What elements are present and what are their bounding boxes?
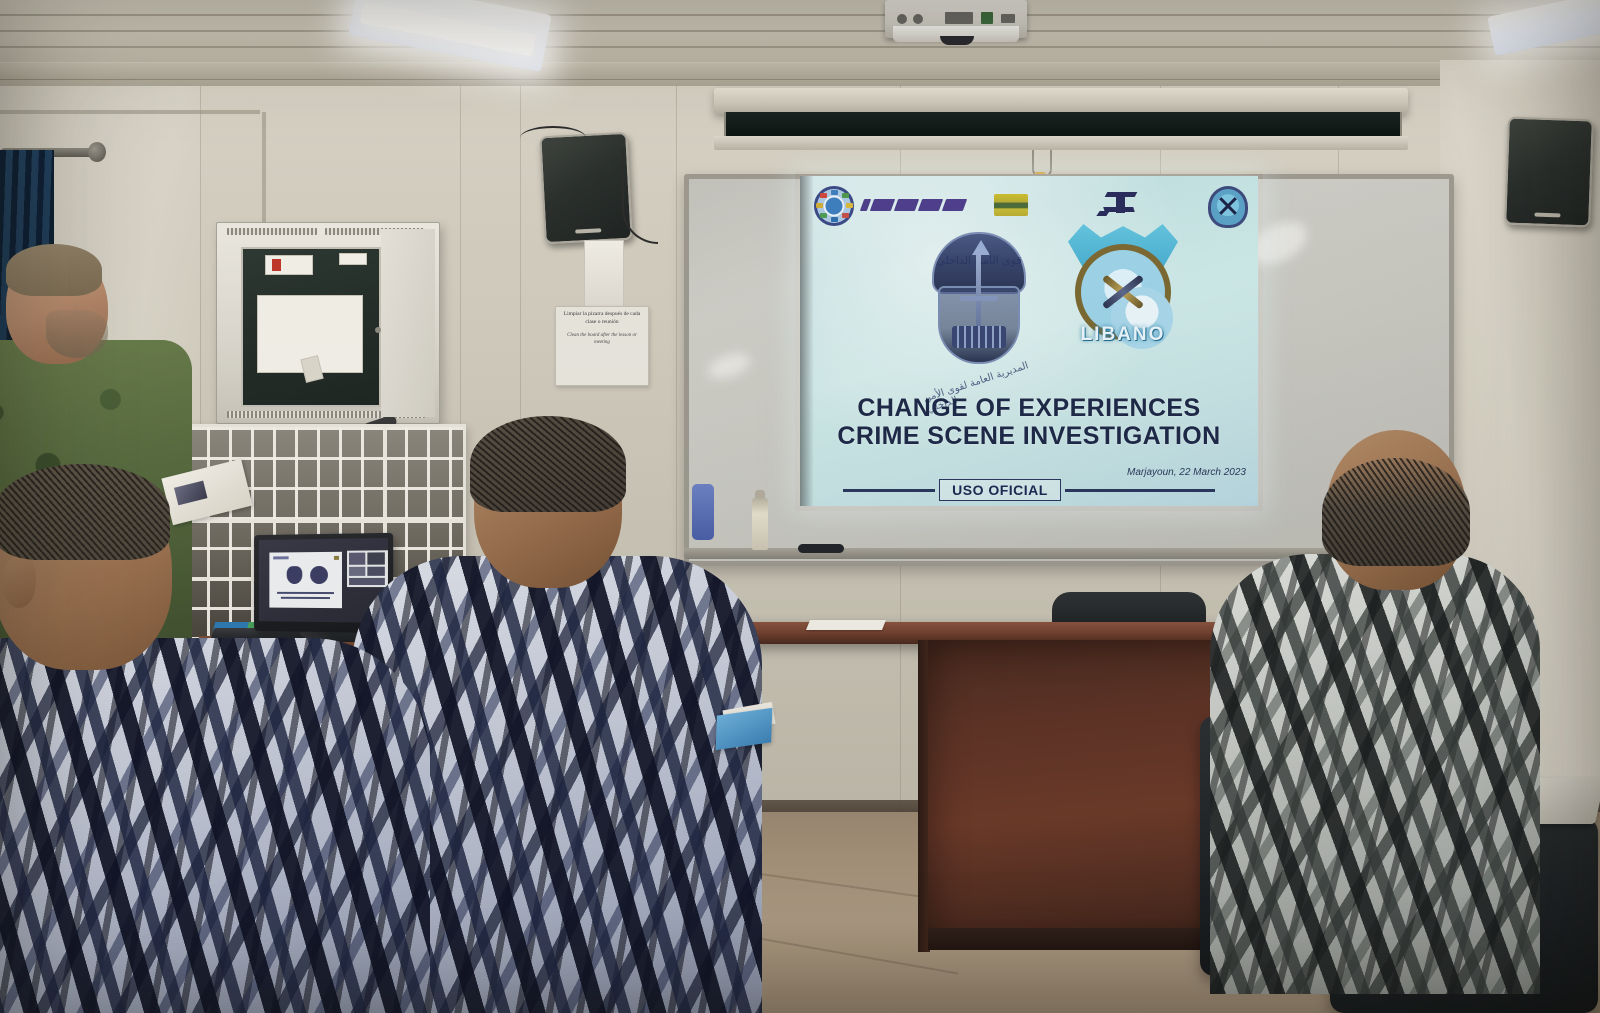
seated-attendee-right	[1210, 430, 1550, 990]
projector-screen-housing-bottom	[714, 136, 1408, 150]
sword-icon	[976, 254, 981, 336]
unifil-libano-caption: LIBANO	[1062, 324, 1184, 346]
attendee-hair	[470, 416, 626, 512]
ceiling-rib	[0, 30, 1600, 32]
network-cabinet[interactable]	[216, 222, 440, 424]
wall-sign-backing	[584, 240, 624, 308]
clean-the-board-sign: Limpiar la pizarra después de cada clase…	[555, 306, 649, 386]
ceiling-beam	[0, 62, 1600, 80]
wall-conduit	[262, 112, 266, 232]
footer-rule-left	[843, 489, 935, 492]
cabinet-label	[265, 255, 313, 275]
desk-paper-sheet[interactable]	[806, 620, 886, 630]
seated-attendee-front-left	[0, 470, 490, 1013]
presenter-hair	[6, 244, 102, 296]
cabinet-lock-icon[interactable]	[375, 327, 381, 333]
attendee-hair	[1322, 458, 1470, 566]
slide-top-icon-row	[800, 182, 1258, 228]
projector-screen-housing[interactable]	[714, 88, 1408, 114]
ceiling-rib	[0, 14, 1600, 16]
attendee-uniform-blue-camo	[0, 638, 430, 1013]
sign-text-english: Clean the board after the lesson or meet…	[559, 332, 645, 347]
slide-title-line-2: CRIME SCENE INVESTIGATION	[800, 422, 1258, 450]
slide-title: CHANGE OF EXPERIENCES CRIME SCENE INVEST…	[800, 394, 1258, 450]
lebanon-flag-icon	[994, 194, 1028, 216]
classroom-scene: Limpiar la pizarra después de cada clase…	[0, 0, 1600, 1013]
presenter-beard	[46, 310, 108, 358]
cabinet-door-panel[interactable]	[381, 229, 435, 417]
whiteboard-marker[interactable]	[798, 544, 844, 553]
slide-title-line-1: CHANGE OF EXPERIENCES	[800, 394, 1258, 422]
projected-slide: قوى الأمن الداخلي المديرية العامة لقوى ا…	[800, 176, 1258, 506]
curtain-rod-finial	[88, 142, 106, 162]
cedar-icon	[972, 240, 990, 255]
wall-conduit	[0, 110, 260, 114]
isf-shield-emblem: قوى الأمن الداخلي	[928, 232, 1030, 364]
un-flags-roundel-icon	[814, 186, 854, 226]
projector-screen-slot	[724, 112, 1402, 138]
dark-unit-emblem-icon	[1098, 190, 1142, 218]
blue-crest-badge-icon	[1208, 186, 1248, 228]
sign-text-spanish: Limpiar la pizarra después de cada clase…	[559, 311, 645, 327]
unifil-libano-emblem: LIBANO	[1062, 224, 1184, 368]
uso-oficial-badge: USO OFICIAL	[939, 479, 1061, 501]
cabinet-glass-door[interactable]	[241, 247, 381, 407]
footer-rule-right	[1065, 489, 1215, 492]
right-wall-speaker	[1504, 117, 1594, 228]
cabinet-label	[339, 253, 367, 265]
slide-footer: USO OFICIAL	[800, 479, 1258, 501]
attendee-hair	[0, 464, 170, 560]
projector-lens-icon	[940, 36, 974, 45]
attendee-uniform-grey-camo	[1210, 554, 1540, 994]
attendee-ear	[2, 556, 36, 608]
ceiling-rib	[0, 46, 1600, 48]
purple-dashes-icon	[862, 199, 965, 211]
speaker-cable	[520, 126, 586, 150]
